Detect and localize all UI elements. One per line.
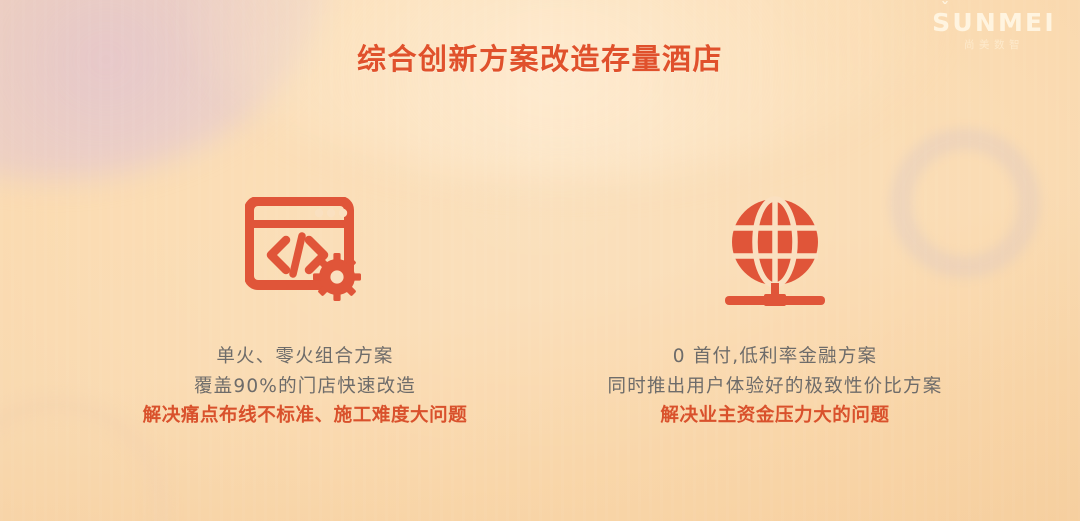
page-title: 综合创新方案改造存量酒店 [0,36,1080,78]
globe-network-icon [717,195,833,311]
icon-slot-right [717,190,833,316]
brand-caron-accent: ˇ [941,1,951,17]
feature-line: 覆盖90%的门店快速改造 [143,378,468,397]
feature-columns: 单火、零火组合方案 覆盖90%的门店快速改造 解决痛点布线不标准、施工难度大问题 [0,190,1080,426]
feature-line: 0 首付,低利率金融方案 [608,348,943,367]
feature-line-highlight: 解决业主资金压力大的问题 [608,407,943,426]
code-window-gear-icon [245,197,365,309]
icon-slot-left [245,190,365,316]
brand-wordmark-rest: UNMEI [952,8,1055,37]
feature-column-left: 单火、零火组合方案 覆盖90%的门店快速改造 解决痛点布线不标准、施工难度大问题 [70,190,540,426]
brand-wordmark: ˇSUNMEI [930,10,1058,35]
brand-logo: ˇSUNMEI 尚美数智 [930,10,1058,51]
brand-subtitle: 尚美数智 [930,40,1058,51]
feature-line: 单火、零火组合方案 [143,348,468,367]
feature-lines-left: 单火、零火组合方案 覆盖90%的门店快速改造 解决痛点布线不标准、施工难度大问题 [143,348,468,426]
feature-column-right: 0 首付,低利率金融方案 同时推出用户体验好的极致性价比方案 解决业主资金压力大… [540,190,1010,426]
feature-lines-right: 0 首付,低利率金融方案 同时推出用户体验好的极致性价比方案 解决业主资金压力大… [608,348,943,426]
feature-line: 同时推出用户体验好的极致性价比方案 [608,378,943,397]
presentation-slide: 综合创新方案改造存量酒店 ˇSUNMEI 尚美数智 [0,0,1080,521]
feature-line-highlight: 解决痛点布线不标准、施工难度大问题 [143,407,468,426]
